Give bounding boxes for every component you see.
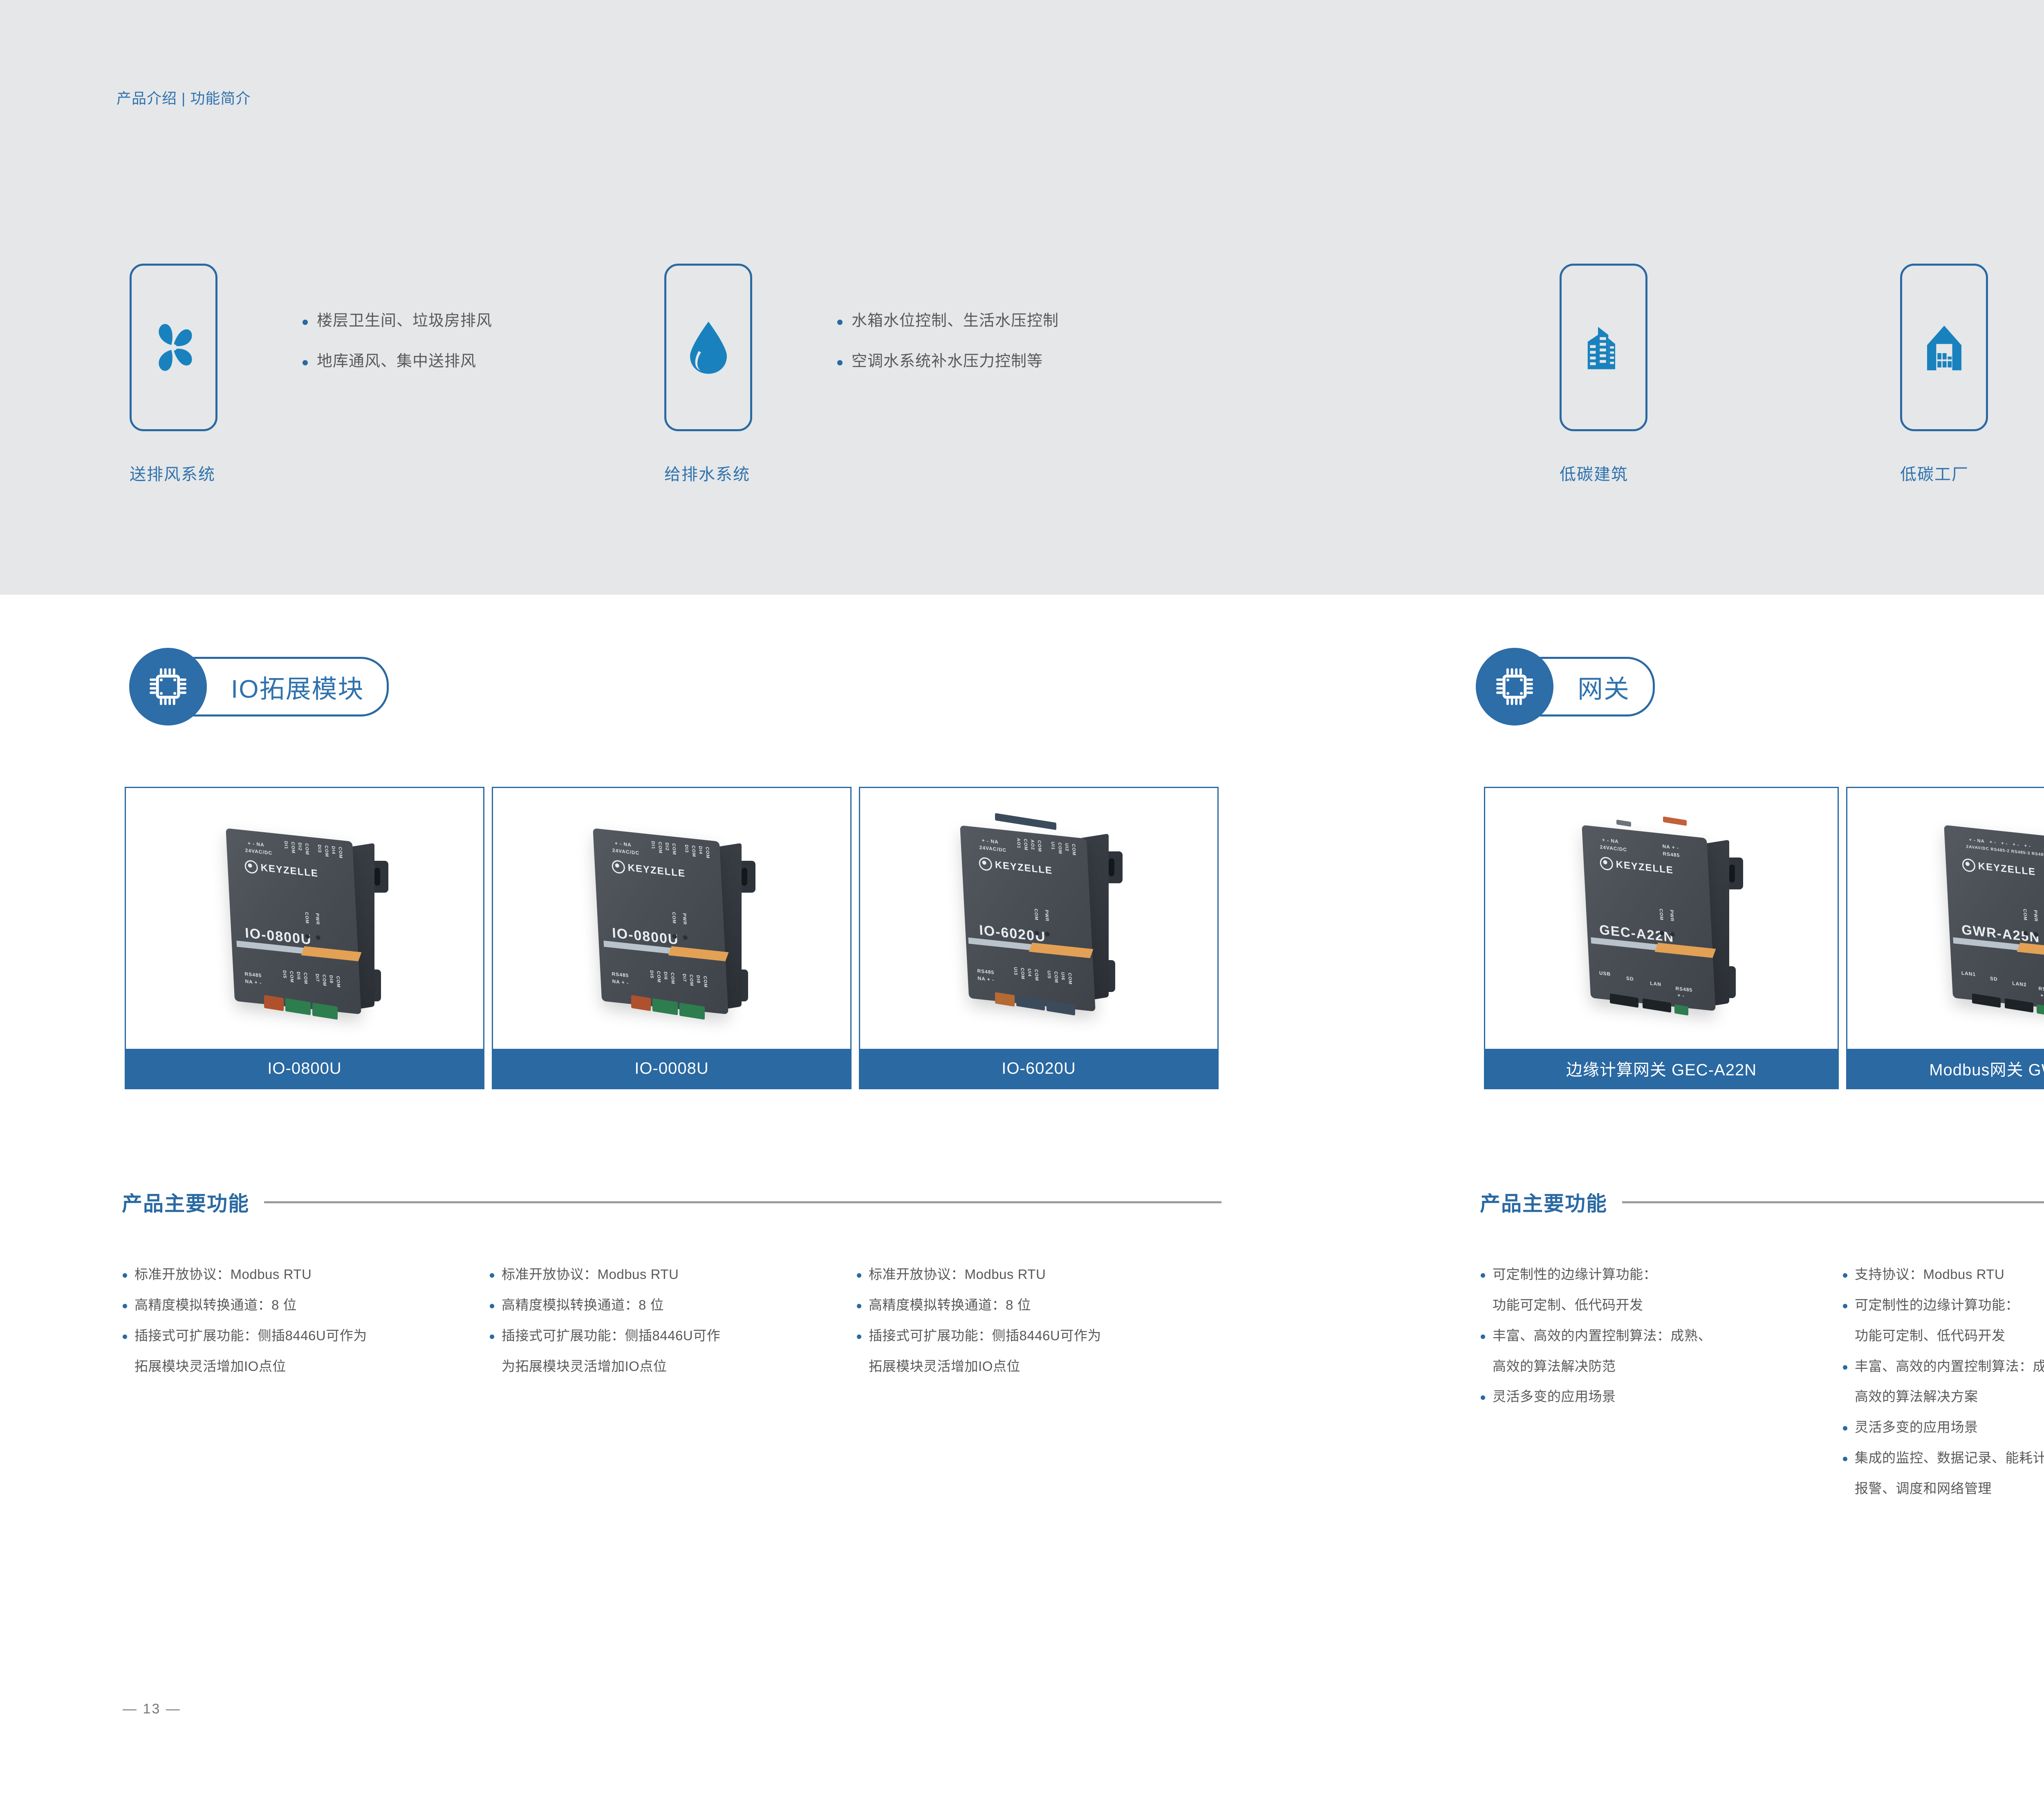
feature-item: 灵活多变的应用场景 (1481, 1387, 1824, 1406)
bullet-dot-icon (1481, 1273, 1485, 1278)
bullet-dot-icon (1843, 1457, 1847, 1461)
feature-column-io-0800u: 标准开放协议：Modbus RTU 高精度模拟转换通道：8 位 插接式可扩展功能… (123, 1265, 474, 1387)
bullet-dot-icon (857, 1273, 861, 1278)
application-label-fan: 送排风系统 (130, 461, 215, 485)
feature-text-continued: 为拓展模块灵活增加IO点位 (502, 1357, 841, 1376)
chip-icon (1476, 648, 1553, 725)
bullet-item: 空调水系统补水压力控制等 (837, 351, 1059, 372)
feature-text: 插接式可扩展功能：侧插8446U可作 (502, 1326, 720, 1346)
feature-text: 丰富、高效的内置控制算法：成熟、 (1493, 1326, 1712, 1346)
bullet-dot-icon (490, 1335, 494, 1339)
brand-name: KEYZELLE (1978, 860, 2036, 878)
feature-text: 可定制性的边缘计算功能： (1855, 1296, 2019, 1315)
feature-text: 支持协议：Modbus RTU (1855, 1265, 2004, 1284)
section-badge-label: 网关 (1578, 668, 1630, 705)
feature-text: 灵活多变的应用场景 (1493, 1387, 1616, 1406)
bullet-dot-icon (1843, 1304, 1847, 1308)
feature-column-gwr-a25n: 支持协议：Modbus RTU 可定制性的边缘计算功能： 功能可定制、低代码开发… (1843, 1265, 2044, 1510)
keyzelle-logo-icon (244, 860, 258, 874)
bullet-item: 楼层卫生间、垃圾房排风 (303, 311, 492, 331)
bullet-dot-icon (123, 1273, 127, 1278)
product-photo-gwr-a25n: + - NA + - + - + - + - 2AVAV/DC RS485-2 … (1847, 788, 2044, 1049)
feature-item: 标准开放协议：Modbus RTU (857, 1265, 1217, 1284)
application-bullets-water: 水箱水位控制、生活水压控制 空调水系统补水压力控制等 (837, 311, 1059, 392)
office-building-icon (1575, 319, 1632, 376)
bullet-item: 地库通风、集中送排风 (303, 351, 492, 372)
feature-text: 丰富、高效的内置控制算法：成熟、 (1855, 1357, 2044, 1376)
scenario-label-building: 低碳建筑 (1560, 461, 1628, 485)
application-icon-frame-water (664, 264, 752, 431)
feature-item: 丰富、高效的内置控制算法：成熟、 (1481, 1326, 1824, 1346)
running-head-left: 产品介绍 | 功能简介 (117, 87, 251, 108)
feature-text: 可定制性的边缘计算功能： (1493, 1265, 1657, 1284)
product-photo-io-0800u: + - NA 24VAC/DC DI1 COM DI2 COM DI3 COM … (126, 788, 483, 1049)
product-photo-io-6020u: + - NA 24VAC/DC AO1 COM AO2 COM UI1 COM … (860, 788, 1217, 1049)
water-drop-icon (678, 317, 739, 378)
keyzelle-logo-icon (1962, 858, 1976, 873)
fan-icon (143, 317, 204, 378)
feature-text-continued: 高效的算法解决防范 (1493, 1357, 1824, 1376)
feature-item: 支持协议：Modbus RTU (1843, 1265, 2044, 1284)
product-caption: IO-0800U (126, 1049, 483, 1088)
bullet-item: 水箱水位控制、生活水压控制 (837, 311, 1059, 331)
product-photo-gec-a22n: + - NA 24VAC/DC NA + - RS485 KEYZELLE GE… (1485, 788, 1838, 1049)
product-card-io-6020u[interactable]: + - NA 24VAC/DC AO1 COM AO2 COM UI1 COM … (859, 787, 1219, 1089)
bullet-dot-icon (857, 1304, 861, 1308)
bullet-dot-icon (857, 1335, 861, 1339)
application-bullets-fan: 楼层卫生间、垃圾房排风 地库通风、集中送排风 (303, 311, 492, 392)
feature-text-continued: 高效的算法解决方案 (1855, 1387, 2044, 1406)
brochure-spread: 产品介绍 | 功能简介 产品介绍 | 功能简介 送排风系统 楼层卫生间、垃圾房排… (0, 0, 2044, 1798)
feature-text-continued: 功能可定制、低代码开发 (1855, 1326, 2044, 1346)
feature-column-io-0008u: 标准开放协议：Modbus RTU 高精度模拟转换通道：8 位 插接式可扩展功能… (490, 1265, 841, 1387)
feature-item: 可定制性的边缘计算功能： (1843, 1296, 2044, 1315)
features-title: 产品主要功能 (1480, 1187, 1607, 1217)
feature-text: 标准开放协议：Modbus RTU (134, 1265, 312, 1284)
feature-text: 高精度模拟转换通道：8 位 (502, 1296, 664, 1315)
feature-item: 插接式可扩展功能：侧插8446U可作 (490, 1326, 841, 1346)
bullet-dot-icon (123, 1304, 127, 1308)
top-gray-band (0, 0, 2044, 595)
section-badge-label: IO拓展模块 (231, 668, 364, 705)
bullet-dot-icon (1481, 1335, 1485, 1339)
chip-icon (129, 648, 207, 725)
brand-name: KEYZELLE (260, 862, 319, 880)
brand-name: KEYZELLE (628, 862, 686, 880)
feature-item: 插接式可扩展功能：侧插8446U可作为 (123, 1326, 474, 1346)
feature-item: 高精度模拟转换通道：8 位 (123, 1296, 474, 1315)
feature-text-continued: 拓展模块灵活增加IO点位 (134, 1357, 474, 1376)
product-card-io-0008u[interactable]: + - NA 24VAC/DC DI1 COM DI2 COM DI3 COM … (492, 787, 852, 1089)
keyzelle-logo-icon (1600, 856, 1614, 871)
feature-item: 高精度模拟转换通道：8 位 (490, 1296, 841, 1315)
feature-text: 集成的监控、数据记录、能耗计量、 (1855, 1449, 2044, 1468)
brand-name: KEYZELLE (995, 859, 1053, 877)
feature-item: 插接式可扩展功能：侧插8446U可作为 (857, 1326, 1217, 1346)
keyzelle-logo-icon (612, 860, 625, 874)
application-label-water: 给排水系统 (664, 461, 750, 485)
feature-text: 插接式可扩展功能：侧插8446U可作为 (869, 1326, 1101, 1346)
feature-column-io-6020u: 标准开放协议：Modbus RTU 高精度模拟转换通道：8 位 插接式可扩展功能… (857, 1265, 1217, 1387)
bullet-dot-icon (490, 1273, 494, 1278)
bullet-dot-icon (303, 320, 308, 325)
scenario-icon-frame-factory (1900, 264, 1988, 431)
factory-icon (1916, 319, 1973, 376)
feature-text: 高精度模拟转换通道：8 位 (134, 1296, 297, 1315)
bullet-dot-icon (123, 1335, 127, 1339)
product-card-gwr-a25n[interactable]: + - NA + - + - + - + - 2AVAV/DC RS485-2 … (1846, 787, 2044, 1089)
feature-item: 丰富、高效的内置控制算法：成熟、 (1843, 1357, 2044, 1376)
features-title: 产品主要功能 (122, 1187, 249, 1217)
feature-item: 标准开放协议：Modbus RTU (123, 1265, 474, 1284)
bullet-dot-icon (1843, 1365, 1847, 1370)
product-photo-io-0008u: + - NA 24VAC/DC DI1 COM DI2 COM DI3 COM … (493, 788, 850, 1049)
bullet-text: 地库通风、集中送排风 (317, 351, 476, 372)
bullet-text: 水箱水位控制、生活水压控制 (852, 311, 1059, 331)
bullet-text: 空调水系统补水压力控制等 (852, 351, 1043, 372)
feature-text-continued: 拓展模块灵活增加IO点位 (869, 1357, 1217, 1376)
bullet-dot-icon (1481, 1395, 1485, 1400)
feature-text: 灵活多变的应用场景 (1855, 1418, 1978, 1437)
feature-text: 标准开放协议：Modbus RTU (869, 1265, 1046, 1284)
feature-item: 高精度模拟转换通道：8 位 (857, 1296, 1217, 1315)
bullet-dot-icon (1843, 1426, 1847, 1431)
product-card-gec-a22n[interactable]: + - NA 24VAC/DC NA + - RS485 KEYZELLE GE… (1484, 787, 1839, 1089)
heading-rule (1622, 1201, 2044, 1203)
bullet-dot-icon (303, 360, 308, 365)
feature-item: 标准开放协议：Modbus RTU (490, 1265, 841, 1284)
page-number-left: — 13 — (123, 1701, 181, 1717)
feature-item: 可定制性的边缘计算功能： (1481, 1265, 1824, 1284)
feature-text: 标准开放协议：Modbus RTU (502, 1265, 679, 1284)
product-card-io-0800u[interactable]: + - NA 24VAC/DC DI1 COM DI2 COM DI3 COM … (125, 787, 484, 1089)
bullet-dot-icon (837, 360, 843, 365)
feature-item: 集成的监控、数据记录、能耗计量、 (1843, 1449, 2044, 1468)
application-icon-frame-fan (130, 264, 217, 431)
brand-name: KEYZELLE (1616, 859, 1674, 876)
feature-column-gec-a22n: 可定制性的边缘计算功能： 功能可定制、低代码开发 丰富、高效的内置控制算法：成熟… (1481, 1265, 1824, 1418)
scenario-label-factory: 低碳工厂 (1900, 461, 1969, 485)
keyzelle-logo-icon (979, 857, 993, 871)
features-heading-io: 产品主要功能 (122, 1187, 1221, 1217)
feature-item: 灵活多变的应用场景 (1843, 1418, 2044, 1437)
bullet-dot-icon (837, 320, 843, 325)
product-caption: 边缘计算网关 GEC-A22N (1485, 1049, 1838, 1088)
scenario-icon-frame-building (1560, 264, 1647, 431)
product-caption: IO-6020U (860, 1049, 1217, 1088)
feature-text: 插接式可扩展功能：侧插8446U可作为 (134, 1326, 367, 1346)
bullet-text: 楼层卫生间、垃圾房排风 (317, 311, 492, 331)
section-badge-io-modules: IO拓展模块 (129, 648, 389, 725)
product-caption: Modbus网关 GWR-A25N (1847, 1049, 2044, 1088)
feature-text-continued: 功能可定制、低代码开发 (1493, 1296, 1824, 1315)
feature-text: 高精度模拟转换通道：8 位 (869, 1296, 1031, 1315)
feature-text-continued: 报警、调度和网络管理 (1855, 1479, 2044, 1498)
section-badge-gateway: 网关 (1476, 648, 1655, 725)
features-heading-gateway: 产品主要功能 (1480, 1187, 2044, 1217)
bullet-dot-icon (1843, 1273, 1847, 1278)
product-caption: IO-0008U (493, 1049, 850, 1088)
heading-rule (264, 1201, 1221, 1203)
bullet-dot-icon (490, 1304, 494, 1308)
